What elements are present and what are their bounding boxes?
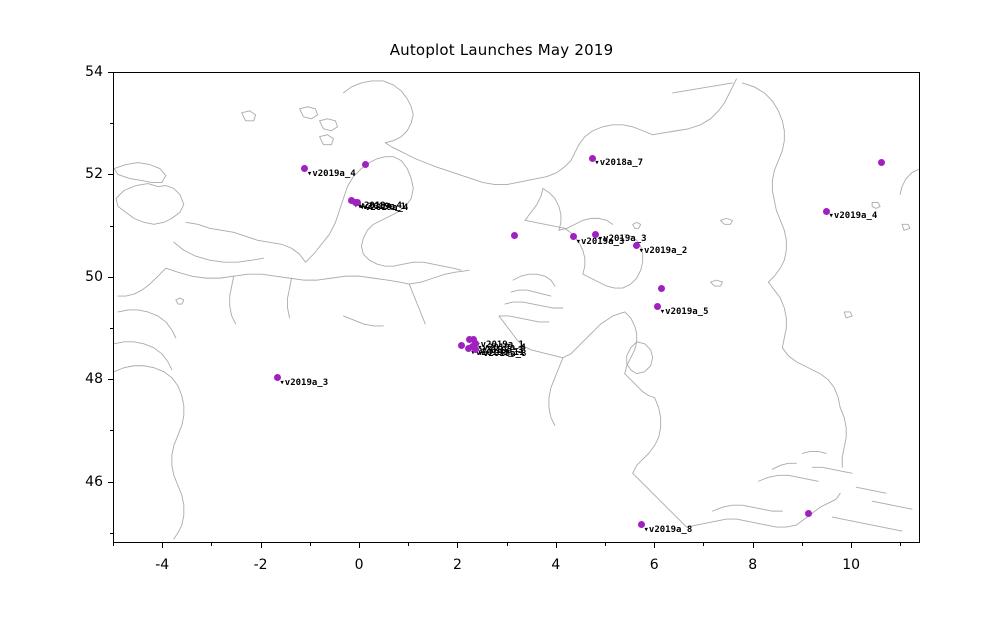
y-axis-tick-label: 48: [65, 371, 103, 387]
x-axis-tick-major: [753, 543, 754, 548]
data-point-marker: [805, 510, 812, 517]
x-axis-tick-major: [261, 543, 262, 548]
x-axis-tick-label: 2: [453, 557, 462, 573]
chart-title: Autoplot Launches May 2019: [0, 41, 1003, 59]
x-axis-tick-label: 4: [551, 557, 560, 573]
x-axis-tick-minor: [605, 543, 606, 546]
plot-area: ▾v2019a_4▾v2019a_4▾v2019a_1▾v2019a_4▾v20…: [113, 72, 920, 543]
x-axis-tick-major: [556, 543, 557, 548]
chart-figure: Autoplot Launches May 2019: [0, 0, 1003, 633]
y-axis-tick-label: 50: [65, 269, 103, 285]
data-point-label: ▾v2019a_2: [639, 246, 688, 256]
data-point-marker: [658, 285, 665, 292]
y-axis-tick-label: 54: [65, 64, 103, 80]
x-axis-tick-major: [359, 543, 360, 548]
y-axis-tick-minor: [110, 123, 113, 124]
x-axis-tick-major: [457, 543, 458, 548]
data-point-marker: [362, 161, 369, 168]
x-axis-tick-minor: [113, 543, 114, 546]
data-point-label: ▾v2018a_8: [478, 349, 527, 359]
data-point-label: ▾v2019a_3: [279, 378, 328, 388]
x-axis-tick-major: [162, 543, 163, 548]
y-axis-tick-major: [108, 72, 113, 73]
data-point-marker: [878, 159, 885, 166]
x-axis-tick-minor: [310, 543, 311, 546]
data-points-layer: ▾v2019a_4▾v2019a_4▾v2019a_1▾v2019a_4▾v20…: [114, 73, 919, 542]
y-axis-tick-minor: [110, 430, 113, 431]
data-point-label: ▾v2019a_4: [829, 211, 878, 221]
y-axis-tick-major: [108, 379, 113, 380]
x-axis-tick-label: 6: [650, 557, 659, 573]
data-point-marker: [511, 232, 518, 239]
y-axis-tick-major: [108, 482, 113, 483]
x-axis-tick-major: [851, 543, 852, 548]
data-point-label: ▾v2019a_4: [307, 169, 356, 179]
y-axis-tick-label: 46: [65, 474, 103, 490]
data-point-label: ▾v2019a_8: [644, 525, 693, 535]
y-axis-tick-major: [108, 277, 113, 278]
data-point-label: ▾v2019a_5: [660, 307, 709, 317]
x-axis-tick-label: -2: [254, 557, 268, 573]
y-axis-tick-major: [108, 174, 113, 175]
y-axis-tick-minor: [110, 533, 113, 534]
x-axis-tick-minor: [900, 543, 901, 546]
data-point-marker: [458, 342, 465, 349]
x-axis-tick-label: -4: [155, 557, 169, 573]
x-axis-tick-minor: [507, 543, 508, 546]
x-axis-tick-label: 10: [842, 557, 860, 573]
x-axis-tick-minor: [703, 543, 704, 546]
y-axis-tick-minor: [110, 328, 113, 329]
x-axis-tick-label: 8: [748, 557, 757, 573]
x-axis-tick-minor: [408, 543, 409, 546]
x-axis-tick-label: 0: [355, 557, 364, 573]
x-axis-tick-minor: [802, 543, 803, 546]
x-axis-tick-major: [654, 543, 655, 548]
y-axis-tick-minor: [110, 226, 113, 227]
data-point-label: ▾v2019a_4: [360, 203, 409, 213]
data-point-label: ▾v2018a_7: [594, 158, 643, 168]
y-axis-tick-label: 52: [65, 166, 103, 182]
x-axis-tick-minor: [211, 543, 212, 546]
